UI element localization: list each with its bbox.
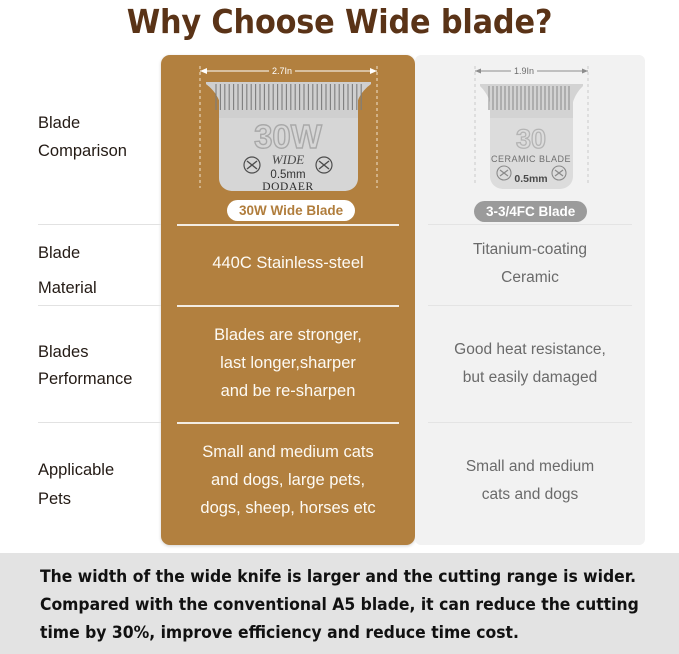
row-label-blades-performance: Blades Performance <box>38 339 158 393</box>
ceramic-blade-pill: 3-3/4FC Blade <box>474 201 587 222</box>
ceramic-blade-model-engraving: 30 <box>516 124 546 154</box>
svg-text:0.5mm: 0.5mm <box>514 173 547 185</box>
svg-text:0.5mm: 0.5mm <box>270 169 305 181</box>
row-divider-2-gold <box>177 305 399 307</box>
ceramic-blade-dimension-label: 1.9In <box>511 66 537 76</box>
cell-ceramic-performance: Good heat resistance, but easily damaged <box>415 336 645 392</box>
wide-blade-dimension-label: 2.7In <box>269 66 295 76</box>
cell-wide-performance: Blades are stronger, last longer,sharper… <box>161 321 415 405</box>
wide-blade-illustration: 30W WIDE 0.5mm DODAER 2.7In <box>186 60 391 250</box>
footer-text: The width of the wide knife is larger an… <box>40 562 607 646</box>
row-divider-1-gray <box>428 224 632 225</box>
svg-text:DODAER: DODAER <box>262 181 314 193</box>
footer-band: The width of the wide knife is larger an… <box>0 553 679 654</box>
wide-blade-pill: 30W Wide Blade <box>227 200 355 221</box>
svg-text:WIDE: WIDE <box>272 152 305 167</box>
row-divider-1 <box>38 224 161 225</box>
row-label-blade-comparison: Blade Comparison <box>38 109 158 165</box>
wide-blade-model-engraving: 30W <box>254 118 323 155</box>
row-divider-3 <box>38 422 161 423</box>
row-divider-2 <box>38 305 161 306</box>
comparison-table: Blade Comparison <box>0 46 679 551</box>
wide-blade-svg: 30W WIDE 0.5mm DODAER <box>186 60 391 250</box>
svg-text:CERAMIC BLADE: CERAMIC BLADE <box>491 154 571 164</box>
page-title: Why Choose Wide blade? <box>27 0 652 46</box>
cell-wide-pets: Small and medium cats and dogs, large pe… <box>161 438 415 522</box>
row-divider-2-gray <box>428 305 632 306</box>
row-divider-1-gold <box>177 224 399 226</box>
cell-ceramic-pets: Small and medium cats and dogs <box>415 453 645 509</box>
row-label-applicable-pets: Applicable Pets <box>38 456 158 514</box>
cell-ceramic-material: Titanium-coating Ceramic <box>415 236 645 292</box>
row-divider-3-gray <box>428 422 632 423</box>
cell-wide-material: 440C Stainless-steel <box>161 249 415 277</box>
row-label-blade-material: Blade Material <box>38 236 158 306</box>
row-divider-3-gold <box>177 422 399 424</box>
